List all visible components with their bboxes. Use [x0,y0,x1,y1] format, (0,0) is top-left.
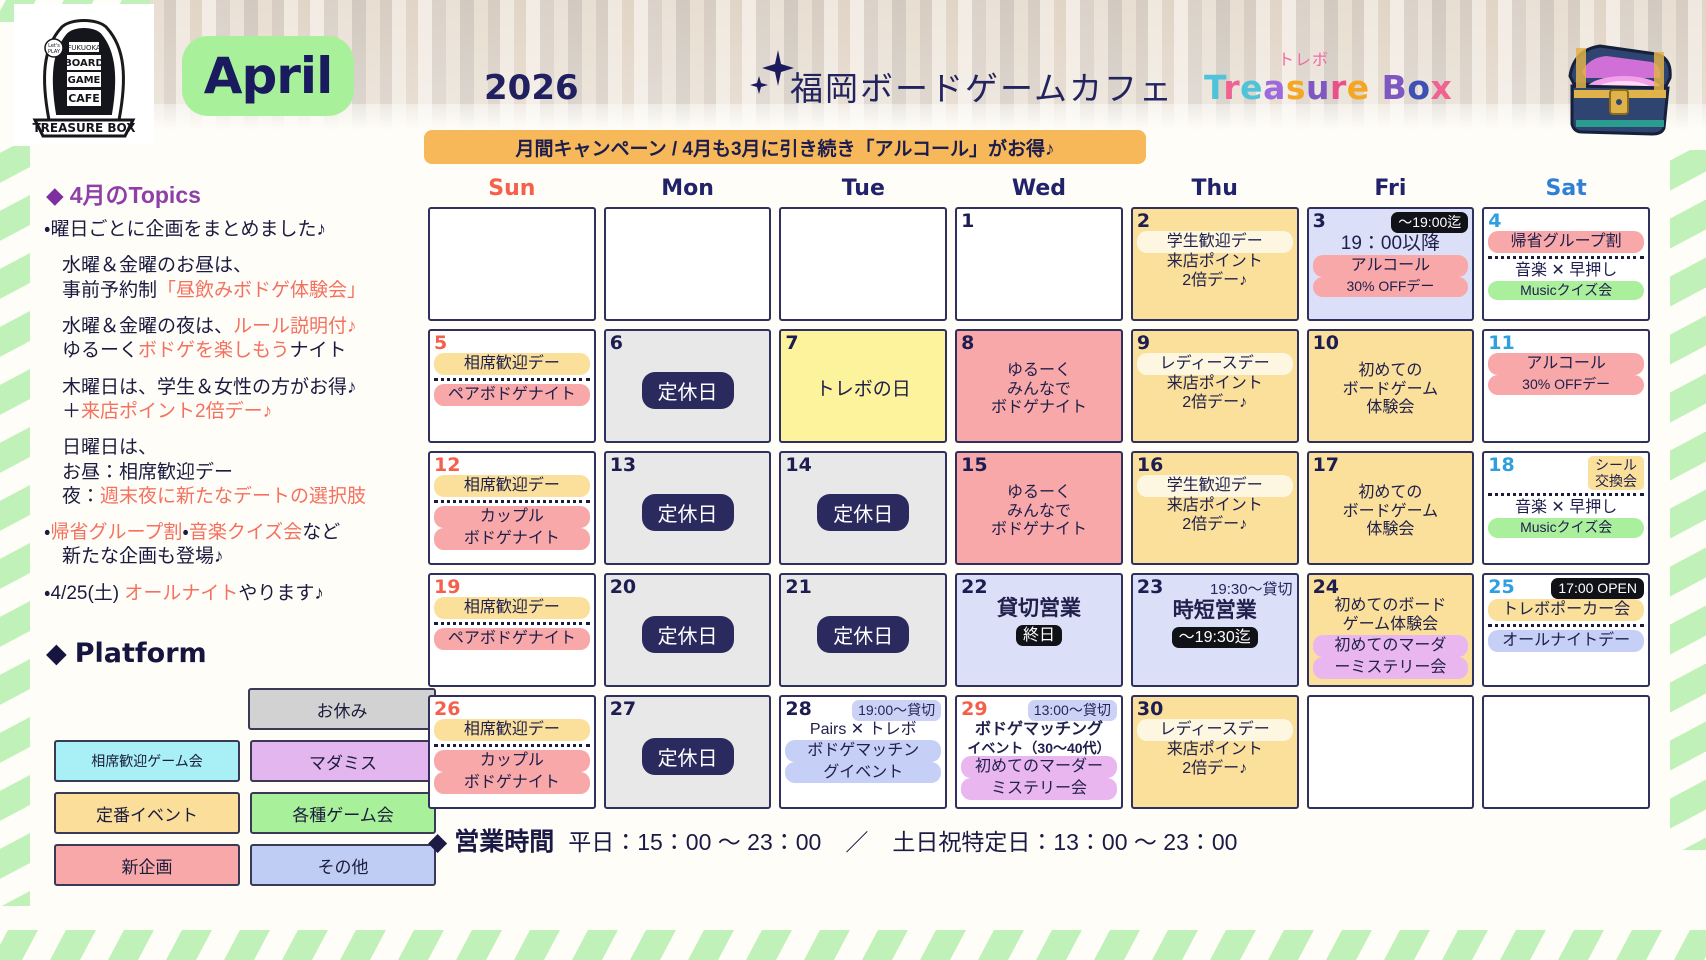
svg-text:TREASURE BOX: TREASURE BOX [32,121,136,135]
event-line: ボドゲマッチング [961,721,1117,740]
cell-divider [1488,256,1644,259]
calendar-cell[interactable]: 8ゆるーくみんなでボドゲナイト [955,329,1123,443]
svg-text:GAME: GAME [68,75,101,86]
topic-text: ルール説明付♪ [233,316,357,337]
treasure-chest-icon [1552,28,1684,140]
day-number: 19 [434,578,460,597]
closed-day-pill: 定休日 [817,494,909,531]
event-line: ボードゲーム [1343,503,1439,522]
calendar-cell-empty [779,207,947,321]
day-number: 12 [434,456,460,475]
day-number: 26 [434,700,460,719]
calendar-cell-empty [1307,695,1475,809]
event-line: 2倍デー♪ [1137,394,1293,413]
topic-text: など [302,522,340,543]
event-tag[interactable]: ボドゲマッチン [785,740,941,762]
calendar-cell-header: 18シール交換会 [1488,456,1644,490]
legend-row: 相席歓迎ゲーム会マダミス [54,740,436,782]
topic-line: 夜：週末夜に新たなデートの選択肢 [44,485,444,509]
calendar-cell[interactable]: 3〜19:00迄19：00以降アルコール30% OFFデー [1307,207,1475,321]
calendar-cell-header: 1 [961,212,1117,231]
topic-block: 水曜＆金曜のお昼は、事前予約制「昼飲みボドゲ体験会」 [44,254,444,303]
event-line: 2倍デー♪ [1137,516,1293,535]
campaign-banner: 月間キャンペーン / 4月も3月に引き続き「アルコール」がお得♪ [424,130,1146,164]
day-number: 8 [961,334,974,353]
day-number: 28 [785,700,811,719]
shop-name: 福岡ボードゲームカフェ [790,62,1174,110]
topic-block: 木曜日は、学生＆女性の方がお得♪＋来店ポイント2倍デー♪ [44,376,444,425]
topic-line: 事前予約制「昼飲みボドゲ体験会」 [44,279,444,303]
topic-text: ボドゲを楽しもう [138,340,289,361]
calendar-cell[interactable]: 4帰省グループ割音楽 ✕ 早押しMusicクイズ会 [1482,207,1650,321]
event-tag[interactable]: ボドゲナイト [434,528,590,550]
topic-text: 週末夜に新たなデートの選択肢 [100,486,366,507]
cell-center-content: 定休日 [610,719,766,793]
topic-text: 水曜＆金曜の夜は、 [62,316,233,337]
day-badge: 17:00 OPEN [1551,578,1644,599]
event-line: 2倍デー♪ [1137,760,1293,779]
weekday-hours: 平日：15：00 〜 23：00 [568,823,821,857]
calendar-cell[interactable]: 15ゆるーくみんなでボドゲナイト [955,451,1123,565]
legend-row: 新企画その他 [54,844,436,886]
calendar-grid: 12学生歓迎デー来店ポイント2倍デー♪3〜19:00迄19：00以降アルコール3… [428,207,1650,809]
cell-center-content: 定休日 [610,475,766,549]
calendar-cell-empty [604,207,772,321]
cell-center-content: 定休日 [785,475,941,549]
topic-text: 新たな企画も登場♪ [62,546,224,567]
cell-event-text: ゆるーくみんなでボドゲナイト [991,362,1087,419]
decorative-stripes-right [1670,150,1706,850]
calendar-cell[interactable]: 1 [955,207,1123,321]
event-tag[interactable]: 学生歓迎デー [1137,231,1293,253]
event-line: ゆるーく [991,362,1087,381]
event-tag[interactable]: ーミステリー会 [1313,657,1469,679]
topic-text: やります♪ [238,583,324,604]
topic-line: ＋来店ポイント2倍デー♪ [44,400,444,424]
cell-divider [434,500,590,503]
brand-ruby-text: トレボ [1278,46,1329,70]
topic-line: お昼：相席歓迎デー [44,461,444,485]
calendar-cell[interactable]: 22貸切営業終日 [955,573,1123,687]
event-line: ゆるーく [991,484,1087,503]
topic-line: ・帰省グループ割・音楽クイズ会など [44,521,444,545]
calendar-cell-header: 14 [785,456,941,475]
calendar-cell[interactable]: 19相席歓迎デーペアボドゲナイト [428,573,596,687]
event-line: 貸切営業 [961,597,1117,622]
legend-chip[interactable]: マダミス [250,740,436,782]
legend-chip[interactable]: 新企画 [54,844,240,886]
platform-legend: お休み相席歓迎ゲーム会マダミス定番イベント各種ゲーム会新企画その他 [54,688,436,896]
day-number: 11 [1488,334,1514,353]
event-tag[interactable]: 30% OFFデー [1488,375,1644,395]
cell-event-text: 初めてのボードゲーム体験会 [1343,362,1439,419]
decorative-stripes-left [0,146,30,906]
day-number: 23 [1137,578,1163,597]
calendar-cell-header: 13 [610,456,766,475]
event-line: 2倍デー♪ [1137,272,1293,291]
topic-text: 夜： [62,486,100,507]
day-of-week-header: Tue [779,176,947,201]
day-number: 9 [1137,334,1150,353]
event-line: 初めての [1343,484,1439,503]
calendar-day-headers: SunMonTueWedThuFriSat [428,176,1650,201]
cell-center-content: 定休日 [785,597,941,671]
calendar-cell-header: 17 [1313,456,1469,475]
day-number: 16 [1137,456,1163,475]
brand-name: Treasure Box [1204,68,1452,107]
logo-icon: FUKUOKA BOARD GAME CAFE Let's PLAY TREAS… [21,8,147,140]
day-badge: 〜19:00迄 [1391,212,1468,233]
day-number: 18 [1488,456,1514,475]
calendar-cell-header: 2517:00 OPEN [1488,578,1644,599]
topic-text: 水曜＆金曜のお昼は、 [62,255,252,276]
topic-text: ゆるーく [62,340,138,361]
day-number: 5 [434,334,447,353]
day-number: 6 [610,334,623,353]
event-tag[interactable]: ボドゲナイト [434,772,590,794]
calendar-cell[interactable]: 10初めてのボードゲーム体験会 [1307,329,1475,443]
calendar-cell[interactable]: 18シール交換会音楽 ✕ 早押しMusicクイズ会 [1482,451,1650,565]
topic-line: 木曜日は、学生＆女性の方がお得♪ [44,376,444,400]
event-line: 来店ポイント [1137,741,1293,760]
day-of-week-header: Wed [955,176,1123,201]
calendar-cell[interactable]: 2517:00 OPENトレボポーカー会オールナイトデー [1482,573,1650,687]
event-line: 音楽 ✕ 早押し [1488,262,1644,281]
cafe-logo: FUKUOKA BOARD GAME CAFE Let's PLAY TREAS… [14,4,154,144]
platform-heading: ◆Platform [46,638,207,669]
calendar-cell-header: 19 [434,578,590,597]
event-tag[interactable]: 相席歓迎デー [434,475,590,497]
day-of-week-header: Mon [604,176,772,201]
day-number: 10 [1313,334,1339,353]
svg-text:CAFE: CAFE [68,92,100,105]
platform-title-text: Platform [75,638,207,669]
calendar-cell-header: 9 [1137,334,1293,353]
inline-badge-wrap: 〜19:30迄 [1137,628,1293,647]
calendar-cell[interactable]: 24初めてのボードゲーム体験会初めてのマーダーミステリー会 [1307,573,1475,687]
calendar-cell-header: 16 [1137,456,1293,475]
event-line: Pairs ✕ トレボ [785,721,941,740]
legend-chip[interactable]: 各種ゲーム会 [250,792,436,834]
calendar-cell-header: 22 [961,578,1117,597]
event-line: みんなで [991,381,1087,400]
calendar-cell[interactable]: 9レディースデー来店ポイント2倍デー♪ [1131,329,1299,443]
topic-block: ・4/25(土) オールナイトやります♪ [44,582,444,606]
cell-center-content: 定休日 [610,597,766,671]
calendar-cell-header: 10 [1313,334,1469,353]
topic-block: 水曜＆金曜の夜は、ルール説明付♪ゆるーくボドゲを楽しもうナイト [44,315,444,364]
calendar-cell[interactable]: 5相席歓迎デーペアボドゲナイト [428,329,596,443]
event-line: ボドゲナイト [991,521,1087,540]
diamond-icon: ◆ [46,182,64,208]
topic-text: お昼：相席歓迎デー [62,462,233,483]
event-line: 初めての [1343,362,1439,381]
calendar-cell-header: 8 [961,334,1117,353]
day-number: 30 [1137,700,1163,719]
day-of-week-header: Sun [428,176,596,201]
event-tag[interactable]: アルコール [1488,353,1644,375]
event-line: 音楽 ✕ 早押し [1488,499,1644,518]
day-number: 24 [1313,578,1339,597]
inline-badge-wrap: 終日 [961,626,1117,645]
day-number: 21 [785,578,811,597]
cell-center-content: トレボの日 [785,353,941,427]
cell-divider [434,622,590,625]
calendar-cell-header: 7 [785,334,941,353]
topic-text: 来店ポイント2倍デー♪ [81,401,272,422]
calendar-cell-header: 20 [610,578,766,597]
day-badge: 19:30〜貸切 [1210,578,1293,599]
topic-line: 水曜＆金曜の夜は、ルール説明付♪ [44,315,444,339]
day-number: 4 [1488,212,1501,231]
sparkle-icon [748,48,796,96]
calendar-cell[interactable]: 11アルコール30% OFFデー [1482,329,1650,443]
day-number: 27 [610,700,636,719]
closed-day-pill: 定休日 [642,494,734,531]
closed-day-pill: 定休日 [642,738,734,775]
event-tag[interactable]: カップル [434,750,590,772]
svg-text:PLAY: PLAY [48,49,61,55]
time-badge: 〜19:30迄 [1172,627,1258,648]
business-hours-label: ◆ 営業時間 [428,822,554,858]
legend-chip[interactable]: その他 [250,844,436,886]
cell-event-text: ゆるーくみんなでボドゲナイト [991,484,1087,541]
cell-center-content: 定休日 [610,353,766,427]
event-tag[interactable]: 相席歓迎デー [434,719,590,741]
calendar-cell-header: 4 [1488,212,1644,231]
event-tag[interactable]: 相席歓迎デー [434,597,590,619]
event-tag[interactable]: グイベント [785,762,941,784]
day-number: 1 [961,212,974,231]
topic-line: ・曜日ごとに企画をまとめました♪ [44,218,444,242]
legend-row: お休み [54,688,436,730]
diamond-icon-platform: ◆ [46,638,67,669]
time-badge: 終日 [1016,625,1062,646]
year-label: 2026 [484,68,579,108]
calendar-cell[interactable]: 20定休日 [604,573,772,687]
calendar-cell-header: 27 [610,700,766,719]
event-tag[interactable]: 初めてのマーダー [961,756,1117,778]
day-number: 20 [610,578,636,597]
calendar-cell-header: 21 [785,578,941,597]
topics-list: ・曜日ごとに企画をまとめました♪水曜＆金曜のお昼は、事前予約制「昼飲みボドゲ体験… [44,218,444,618]
topic-line: 水曜＆金曜のお昼は、 [44,254,444,278]
day-of-week-header: Fri [1307,176,1475,201]
legend-spacer [54,688,238,730]
event-tag[interactable]: 初めてのマーダ [1313,635,1469,657]
event-tag[interactable]: ミステリー会 [961,778,1117,800]
calendar-cell-header: 6 [610,334,766,353]
event-line: 体験会 [1343,521,1439,540]
day-number: 14 [785,456,811,475]
event-tag[interactable]: レディースデー [1137,353,1293,375]
topic-text: ＋ [62,401,81,422]
event-line: 来店ポイント [1137,253,1293,272]
cell-center-content: ゆるーくみんなでボドゲナイト [961,353,1117,427]
event-line: みんなで [991,503,1087,522]
day-number: 3 [1313,212,1326,231]
event-tag[interactable]: Musicクイズ会 [1488,281,1644,301]
calendar-cell[interactable]: 14定休日 [779,451,947,565]
topic-text: 音楽クイズ会 [189,522,302,543]
calendar-cell-header: 30 [1137,700,1293,719]
calendar-cell-header: 2819:00〜貸切 [785,700,941,721]
event-line: ボードゲーム [1343,381,1439,400]
day-number: 13 [610,456,636,475]
calendar-cell-header: 26 [434,700,590,719]
legend-row: 定番イベント各種ゲーム会 [54,792,436,834]
event-tag[interactable]: アルコール [1313,255,1469,277]
topics-heading: ◆4月のTopics [46,176,201,210]
topic-line: ・4/25(土) オールナイトやります♪ [44,582,444,606]
topic-text: 日曜日は、 [62,437,157,458]
calendar-cell[interactable]: 2319:30〜貸切時短営業〜19:30迄 [1131,573,1299,687]
topic-text: 帰省グループ割 [50,522,182,543]
topic-text: オールナイト [124,583,238,604]
cell-center-content: 初めてのボードゲーム体験会 [1313,475,1469,549]
calendar-cell-header: 2 [1137,212,1293,231]
event-tag[interactable]: レディースデー [1137,719,1293,741]
legend-chip[interactable]: 定番イベント [54,792,240,834]
svg-text:BOARD: BOARD [64,58,104,69]
topic-line: 日曜日は、 [44,436,444,460]
calendar-cell-header: 3〜19:00迄 [1313,212,1469,233]
weekend-hours: 土日祝特定日：13：00 〜 23：00 [892,823,1237,857]
event-line: 初めてのボード [1313,597,1469,616]
cell-center-content: ゆるーくみんなでボドゲナイト [961,475,1117,549]
calendar-cell[interactable]: 26相席歓迎デーカップルボドゲナイト [428,695,596,809]
diamond-icon-hours: ◆ [428,828,447,856]
business-hours-title: 営業時間 [454,828,554,856]
closed-day-pill: 定休日 [642,616,734,653]
calendar-cell[interactable]: 27定休日 [604,695,772,809]
cell-event-text: トレボの日 [816,379,911,401]
calendar-cell-empty [1482,695,1650,809]
day-number: 17 [1313,456,1339,475]
legend-chip[interactable]: 相席歓迎ゲーム会 [54,740,240,782]
calendar-cell[interactable]: 2学生歓迎デー来店ポイント2倍デー♪ [1131,207,1299,321]
day-of-week-header: Thu [1131,176,1299,201]
event-tag[interactable]: カップル [434,506,590,528]
topic-text: 木曜日は、学生＆女性の方がお得♪ [62,377,357,398]
day-number: 2 [1137,212,1150,231]
topic-text: 事前予約制 [62,280,157,301]
day-number: 29 [961,700,987,719]
cell-divider [434,744,590,747]
event-tag[interactable]: Musicクイズ会 [1488,518,1644,538]
topic-text: 4/25(土) [50,583,124,604]
calendar-cell-header: 11 [1488,334,1644,353]
event-tag[interactable]: オールナイトデー [1488,630,1644,652]
cell-center-content: 初めてのボードゲーム体験会 [1313,353,1469,427]
event-line: 19：00以降 [1313,233,1469,255]
event-tag[interactable]: 学生歓迎デー [1137,475,1293,497]
event-line: ゲーム体験会 [1313,616,1469,635]
event-tag[interactable]: 相席歓迎デー [434,353,590,375]
event-tag[interactable]: ペアボドゲナイト [434,384,590,406]
calendar-cell[interactable]: 13定休日 [604,451,772,565]
calendar-cell[interactable]: 6定休日 [604,329,772,443]
calendar-cell-header: 2319:30〜貸切 [1137,578,1293,599]
calendar-cell[interactable]: 17初めてのボードゲーム体験会 [1307,451,1475,565]
event-line: 来店ポイント [1137,375,1293,394]
topic-text: 「昼飲みボドゲ体験会」 [157,280,366,301]
topic-text: 曜日ごとに企画をまとめました♪ [50,219,326,240]
campaign-text: 月間キャンペーン / 4月も3月に引き続き「アルコール」がお得♪ [516,134,1055,161]
event-line: 体験会 [1343,399,1439,418]
topic-block: ・帰省グループ割・音楽クイズ会など新たな企画も登場♪ [44,521,444,570]
event-line: イベント（30〜40代） [961,740,1117,757]
event-tag[interactable]: ペアボドゲナイト [434,628,590,650]
day-number: 15 [961,456,987,475]
calendar-cell[interactable]: 2913:00〜貸切ボドゲマッチングイベント（30〜40代）初めてのマーダーミス… [955,695,1123,809]
calendar-cell-empty [428,207,596,321]
calendar-cell[interactable]: 12相席歓迎デーカップルボドゲナイト [428,451,596,565]
topic-line: ゆるーくボドゲを楽しもうナイト [44,339,444,363]
day-badge: 13:00〜貸切 [1028,700,1117,721]
day-badge: 19:00〜貸切 [852,700,941,721]
calendar-page: FUKUOKA BOARD GAME CAFE Let's PLAY TREAS… [0,0,1706,960]
day-badge: シール交換会 [1588,456,1644,490]
cell-event-text: 初めてのボードゲーム体験会 [1343,484,1439,541]
calendar-cell-header: 24 [1313,578,1469,597]
topic-block: ・曜日ごとに企画をまとめました♪ [44,218,444,242]
topics-title-text: 4月のTopics [70,182,201,208]
legend-chip[interactable]: お休み [248,688,436,730]
svg-text:FUKUOKA: FUKUOKA [67,44,101,52]
event-tag[interactable]: 帰省グループ割 [1488,231,1644,253]
hours-separator: ／ [835,823,878,857]
topic-line: 新たな企画も登場♪ [44,545,444,569]
business-hours: ◆ 営業時間 平日：15：00 〜 23：00 ／ 土日祝特定日：13：00 〜… [428,822,1628,858]
event-tag[interactable]: トレボポーカー会 [1488,599,1644,621]
event-line: 時短営業 [1137,599,1293,624]
closed-day-pill: 定休日 [642,372,734,409]
day-number: 22 [961,578,987,597]
calendar-cell[interactable]: 21定休日 [779,573,947,687]
cell-divider [434,378,590,381]
event-line: 来店ポイント [1137,497,1293,516]
day-number: 25 [1488,578,1514,597]
calendar-cell[interactable]: 30レディースデー来店ポイント2倍デー♪ [1131,695,1299,809]
calendar-cell-header: 2913:00〜貸切 [961,700,1117,721]
calendar: SunMonTueWedThuFriSat 12学生歓迎デー来店ポイント2倍デー… [428,176,1650,809]
decorative-stripes-bottom [0,930,1706,960]
closed-day-pill: 定休日 [817,616,909,653]
topic-text: ナイト [289,340,346,361]
month-label: April [204,47,332,105]
day-number: 7 [785,334,798,353]
event-line: ボドゲナイト [991,399,1087,418]
cell-divider [1488,493,1644,496]
month-badge: April [182,36,354,116]
topic-block: 日曜日は、お昼：相席歓迎デー夜：週末夜に新たなデートの選択肢 [44,436,444,509]
cell-divider [1488,624,1644,627]
calendar-cell-header: 15 [961,456,1117,475]
event-tag[interactable]: 30% OFFデー [1313,277,1469,297]
calendar-cell-header: 12 [434,456,590,475]
calendar-cell[interactable]: 2819:00〜貸切Pairs ✕ トレボボドゲマッチングイベント [779,695,947,809]
calendar-cell[interactable]: 7トレボの日 [779,329,947,443]
calendar-cell-header: 5 [434,334,590,353]
calendar-cell[interactable]: 16学生歓迎デー来店ポイント2倍デー♪ [1131,451,1299,565]
day-of-week-header: Sat [1482,176,1650,201]
